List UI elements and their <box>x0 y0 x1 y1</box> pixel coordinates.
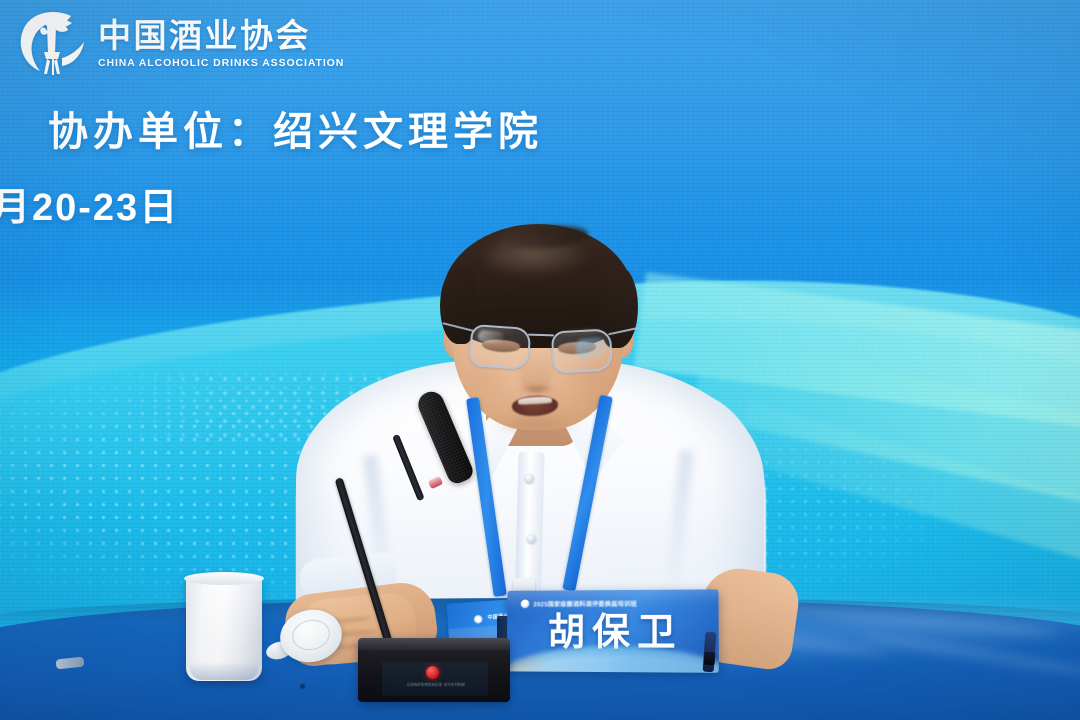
microphone-base-top <box>358 638 510 650</box>
nameplate-header: 2025国家级酿酒料酒评委换届培训班 <box>521 599 711 609</box>
cup-rim <box>184 572 264 585</box>
cada-round-icon <box>521 600 530 609</box>
eyeglass-lens-left <box>469 324 532 370</box>
shirt-button <box>525 474 534 483</box>
cup-base-shading <box>190 662 258 680</box>
nostril-shadow <box>518 384 556 394</box>
microphone-base-label: CONFERENCE SYSTEM <box>388 682 484 687</box>
table-speck <box>300 684 305 689</box>
lens-glare-right <box>575 336 607 359</box>
pen-cap <box>704 652 716 666</box>
microphone-indicator-light <box>426 666 439 679</box>
nameplate: 2025国家级酿酒料酒评委换届培训班 胡保卫 <box>507 589 719 672</box>
badge-logo-icon <box>473 614 483 624</box>
nameplate-event-title: 2025国家级酿酒料酒评委换届培训班 <box>533 599 637 608</box>
chin-shadow <box>494 412 578 436</box>
conference-photo-scene: 中国酒业协会 CHINA ALCOHOLIC DRINKS ASSOCIATIO… <box>0 0 1080 720</box>
shirt-button <box>527 534 536 543</box>
